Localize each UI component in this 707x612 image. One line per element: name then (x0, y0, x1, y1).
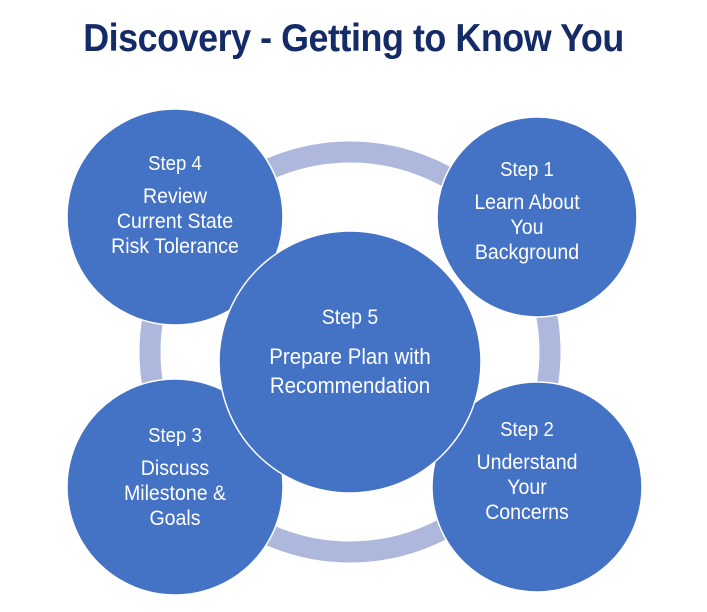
cycle-diagram (0, 86, 707, 612)
diagram-page: Discovery - Getting to Know You Step 4 R… (0, 0, 707, 612)
page-title: Discovery - Getting to Know You (28, 16, 678, 62)
node-circle-step5[interactable] (219, 231, 481, 493)
node-circle-step1[interactable] (437, 117, 637, 317)
